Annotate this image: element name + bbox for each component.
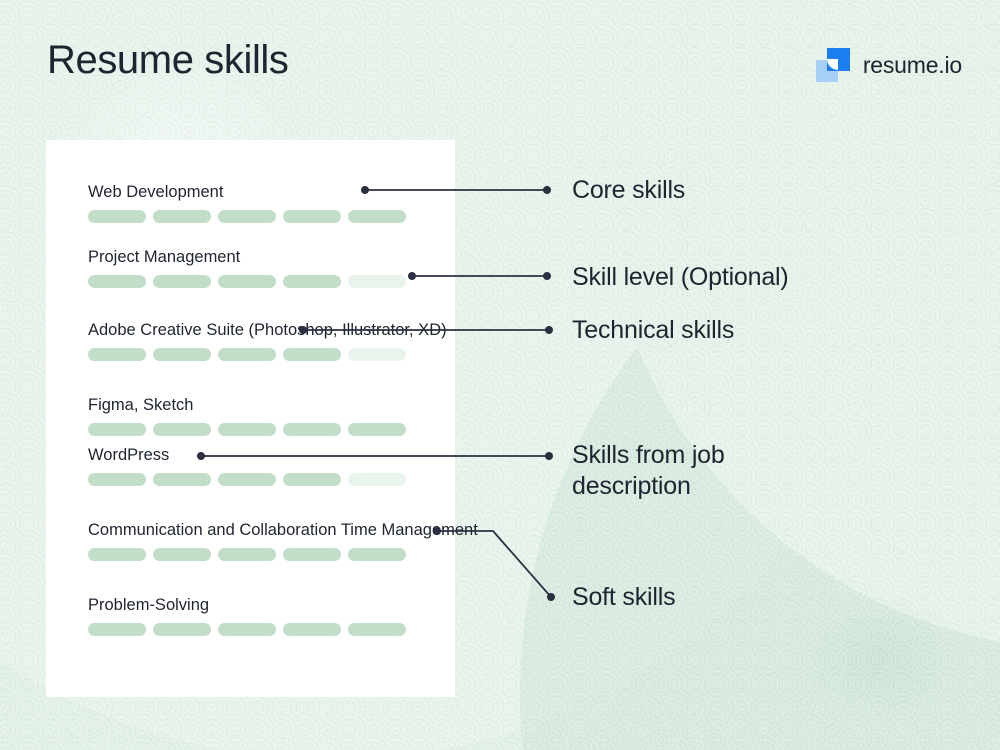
- skill-level-pill-empty: [348, 348, 406, 361]
- skill-level-pill-filled: [88, 275, 146, 288]
- skill-level-bar: [88, 210, 418, 223]
- skill-level-pill-filled: [348, 210, 406, 223]
- skill-level-pill-filled: [283, 423, 341, 436]
- callout-skill-level: Skill level (Optional): [572, 262, 789, 293]
- skill-level-pill-filled: [88, 548, 146, 561]
- skill-block-figma-sketch: Figma, Sketch: [88, 393, 418, 436]
- skill-label: Figma, Sketch: [88, 393, 418, 418]
- skill-label: Adobe Creative Suite (Photoshop, Illustr…: [88, 318, 418, 343]
- skill-level-pill-filled: [283, 348, 341, 361]
- skill-block-communication-time-management: Communication and Collaboration Time Man…: [88, 518, 418, 561]
- callout-technical-skills: Technical skills: [572, 315, 734, 346]
- skill-level-pill-filled: [218, 473, 276, 486]
- skill-label: Communication and Collaboration Time Man…: [88, 518, 418, 543]
- skill-level-pill-filled: [283, 473, 341, 486]
- skill-level-bar: [88, 275, 418, 288]
- skill-level-pill-filled: [283, 275, 341, 288]
- skill-level-pill-filled: [348, 423, 406, 436]
- skill-level-pill-filled: [283, 623, 341, 636]
- skill-level-pill-filled: [283, 548, 341, 561]
- skill-level-bar: [88, 348, 418, 361]
- skill-level-pill-filled: [153, 210, 211, 223]
- skill-level-pill-filled: [88, 423, 146, 436]
- skill-level-bar: [88, 423, 418, 436]
- skill-level-pill-filled: [218, 348, 276, 361]
- skill-level-pill-filled: [218, 275, 276, 288]
- skills-from-job-connector-end-dot: [545, 452, 553, 460]
- skill-level-pill-filled: [88, 348, 146, 361]
- skill-level-bar: [88, 473, 418, 486]
- skill-label: WordPress: [88, 443, 418, 468]
- skill-block-problem-solving: Problem-Solving: [88, 593, 418, 636]
- skill-level-pill-filled: [153, 623, 211, 636]
- skill-label: Project Management: [88, 245, 418, 270]
- skill-level-pill-filled: [218, 210, 276, 223]
- callout-soft-skills: Soft skills: [572, 582, 675, 613]
- soft-skills-connector-end-dot: [547, 593, 555, 601]
- skill-level-pill-filled: [153, 473, 211, 486]
- skill-level-bar: [88, 623, 418, 636]
- skill-level-pill-filled: [153, 348, 211, 361]
- skill-level-pill-filled: [88, 210, 146, 223]
- skill-level-pill-filled: [218, 423, 276, 436]
- skill-level-pill-filled: [218, 548, 276, 561]
- skill-level-pill-filled: [218, 623, 276, 636]
- skill-level-pill-filled: [153, 423, 211, 436]
- callout-core-skills: Core skills: [572, 175, 685, 206]
- resume-io-logo-icon: [816, 48, 850, 82]
- skill-level-pill-empty: [348, 473, 406, 486]
- skill-level-connector-end-dot: [543, 272, 551, 280]
- background-shape-bottom-right: [520, 120, 1000, 750]
- brand-logo: resume.io: [816, 48, 962, 82]
- skill-label: Problem-Solving: [88, 593, 418, 618]
- skill-level-pill-filled: [348, 548, 406, 561]
- skill-level-pill-filled: [153, 275, 211, 288]
- callout-skills-from-job: Skills from job description: [572, 440, 725, 502]
- skill-level-pill-filled: [153, 548, 211, 561]
- resume-card: Web DevelopmentProject ManagementAdobe C…: [46, 140, 455, 697]
- slide-canvas: Resume skills resume.io Web DevelopmentP…: [0, 0, 1000, 750]
- skill-block-web-development: Web Development: [88, 180, 418, 223]
- skill-level-pill-empty: [348, 275, 406, 288]
- skill-block-adobe-creative-suite: Adobe Creative Suite (Photoshop, Illustr…: [88, 318, 418, 361]
- skill-block-wordpress: WordPress: [88, 443, 418, 486]
- skill-label: Web Development: [88, 180, 418, 205]
- technical-skills-connector-end-dot: [545, 326, 553, 334]
- skill-level-bar: [88, 548, 418, 561]
- brand-name: resume.io: [863, 52, 962, 79]
- page-title: Resume skills: [47, 38, 289, 83]
- skill-level-pill-filled: [88, 623, 146, 636]
- skill-level-pill-filled: [283, 210, 341, 223]
- skill-level-pill-filled: [88, 473, 146, 486]
- skill-block-project-management: Project Management: [88, 245, 418, 288]
- skill-level-pill-filled: [348, 623, 406, 636]
- core-skills-connector-end-dot: [543, 186, 551, 194]
